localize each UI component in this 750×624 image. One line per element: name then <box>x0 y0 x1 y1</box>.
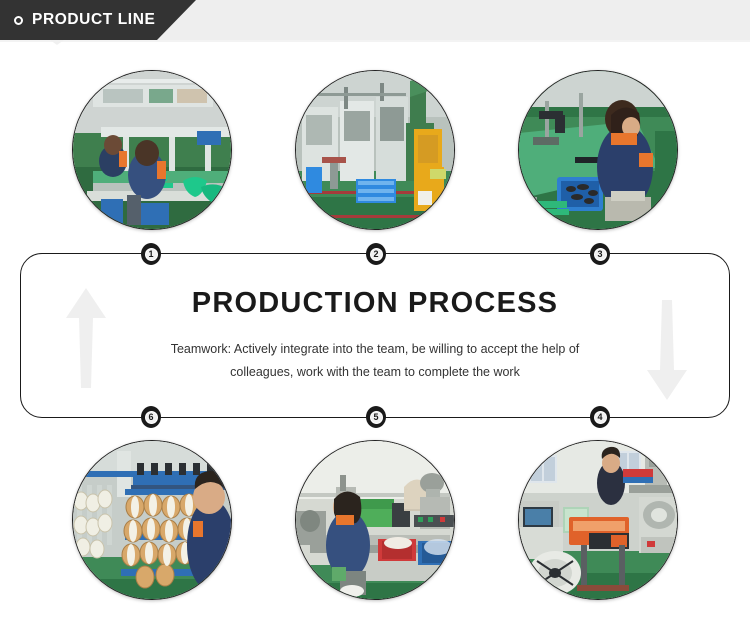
process-title: PRODUCTION PROCESS <box>192 287 558 320</box>
arrow-down-icon <box>645 300 689 400</box>
badge-ring: 6 <box>145 411 158 424</box>
photo-wire-braiding[interactable] <box>72 440 232 600</box>
step-number: 6 <box>148 413 153 422</box>
photo-cable-extrusion[interactable] <box>518 440 678 600</box>
process-box-content: PRODUCTION PROCESS Teamwork: Actively in… <box>21 254 729 417</box>
header-tab: PRODUCT LINE <box>0 0 196 40</box>
badge-ring: 5 <box>370 411 383 424</box>
step-number: 4 <box>597 413 602 422</box>
step-number: 5 <box>373 413 378 422</box>
badge-ring: 4 <box>594 411 607 424</box>
step-badge-6[interactable]: 6 <box>141 406 161 428</box>
photo-row-top <box>0 70 750 230</box>
step-number: 3 <box>597 250 602 259</box>
header-bar: PRODUCT LINE <box>0 0 750 40</box>
step-number: 2 <box>373 250 378 259</box>
badge-ring: 1 <box>145 248 158 261</box>
arrow-up-icon <box>64 288 108 388</box>
step-badge-1[interactable]: 1 <box>141 243 161 265</box>
step-badge-5[interactable]: 5 <box>366 406 386 428</box>
process-box: PRODUCTION PROCESS Teamwork: Actively in… <box>20 253 730 418</box>
page-title: PRODUCT LINE <box>32 11 155 29</box>
step-badge-3[interactable]: 3 <box>590 243 610 265</box>
step-badge-4[interactable]: 4 <box>590 406 610 428</box>
header-notch-icon <box>50 40 64 45</box>
photo-component-assembly[interactable] <box>518 70 678 230</box>
photo-assembly-line[interactable] <box>72 70 232 230</box>
step-badge-2[interactable]: 2 <box>366 243 386 265</box>
header-divider <box>0 40 750 42</box>
process-description: Teamwork: Actively integrate into the te… <box>140 338 610 384</box>
cable-extrusion-illustration <box>519 441 678 600</box>
testing-bench-illustration <box>296 441 455 600</box>
product-line-page: PRODUCT LINE <box>0 0 750 624</box>
badge-ring: 2 <box>370 248 383 261</box>
step-number: 1 <box>148 250 153 259</box>
photo-row-bottom <box>0 440 750 600</box>
badge-ring: 3 <box>594 248 607 261</box>
assembly-line-illustration <box>73 71 232 230</box>
component-assembly-illustration <box>519 71 678 230</box>
ring-icon <box>14 16 23 25</box>
photo-testing-bench[interactable] <box>295 440 455 600</box>
photo-injection-molding[interactable] <box>295 70 455 230</box>
injection-molding-illustration <box>296 71 455 230</box>
wire-braiding-illustration <box>73 441 232 600</box>
